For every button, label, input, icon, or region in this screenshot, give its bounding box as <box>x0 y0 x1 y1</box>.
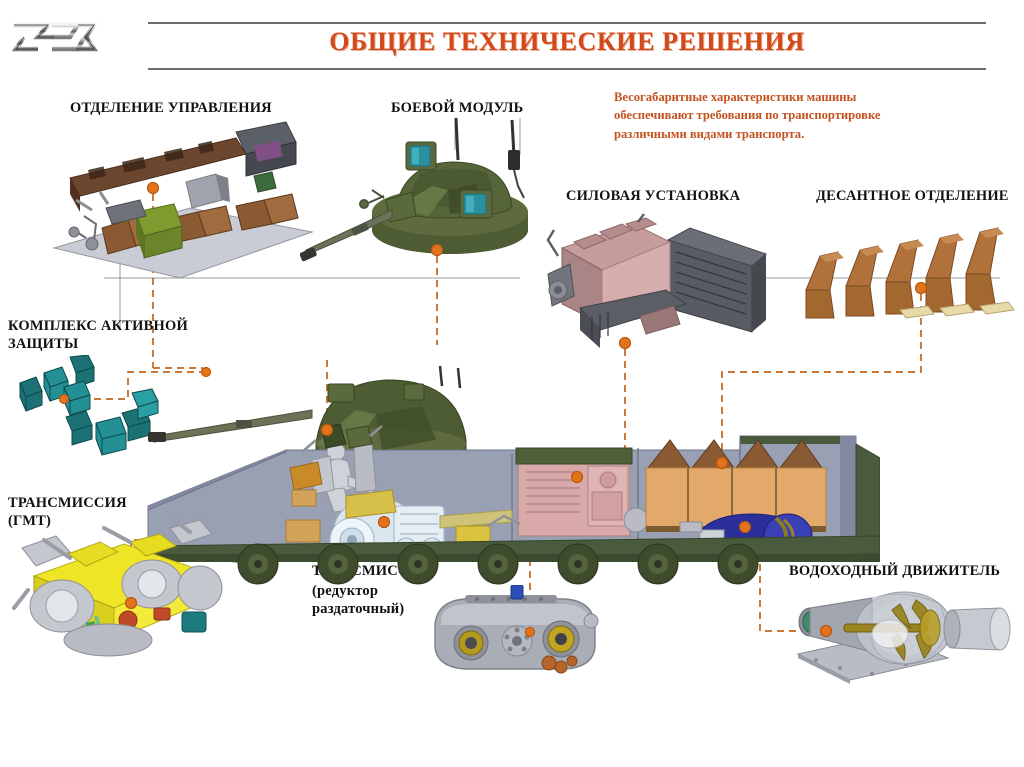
art-combat-module <box>300 112 550 272</box>
callout-dot-hull-transmission <box>378 516 390 528</box>
header-rule-top <box>148 22 986 24</box>
art-control-compartment <box>40 120 330 290</box>
art-troop-seats-module <box>800 218 1024 328</box>
label-control-compartment: ОТДЕЛЕНИЕ УПРАВЛЕНИЯ <box>70 100 272 117</box>
label-transfer-case-3: раздаточный) <box>312 601 404 618</box>
callout-dot-combat-module <box>431 244 443 256</box>
callout-dot-hull-driver <box>321 424 333 436</box>
note-line-3: различными видами транспорта. <box>614 125 944 143</box>
label-troop-compartment: ДЕСАНТНОЕ ОТДЕЛЕНИЕ <box>816 188 1009 205</box>
note-transport: Весогабаритные характеристики машины обе… <box>614 88 944 143</box>
label-active-protection-1: КОМПЛЕКС АКТИВНОЙ <box>8 318 188 335</box>
callout-dot-hull-waterjet <box>739 521 751 533</box>
note-line-2: обеспечивают требования по транспортиров… <box>614 106 944 124</box>
header-rule-bottom <box>148 68 986 70</box>
page-title: ОБЩИЕ ТЕХНИЧЕСКИЕ РЕШЕНИЯ <box>148 27 986 57</box>
note-line-1: Весогабаритные характеристики машины <box>614 88 944 106</box>
callout-dot-waterjet <box>820 625 832 637</box>
callout-dot-hull-engine <box>571 471 583 483</box>
label-power-plant: СИЛОВАЯ УСТАНОВКА <box>566 188 740 205</box>
callout-dot-active-protection <box>59 394 69 404</box>
slide-canvas: ОБЩИЕ ТЕХНИЧЕСКИЕ РЕШЕНИЯ <box>0 0 1024 767</box>
callout-dot-transfer-case <box>525 627 535 637</box>
uvz-logo <box>8 16 100 60</box>
callout-dot-troop-compartment <box>915 282 927 294</box>
callout-dot-transmission-gmt <box>125 597 137 609</box>
callout-dot-hull-front <box>201 367 211 377</box>
art-transmission-gmt <box>4 480 254 660</box>
art-transfer-case <box>425 585 605 675</box>
label-active-protection-2: ЗАЩИТЫ <box>8 336 78 353</box>
callout-dot-control-compartment <box>147 182 159 194</box>
callout-dot-hull-troops <box>716 457 728 469</box>
art-waterjet <box>780 580 1024 690</box>
